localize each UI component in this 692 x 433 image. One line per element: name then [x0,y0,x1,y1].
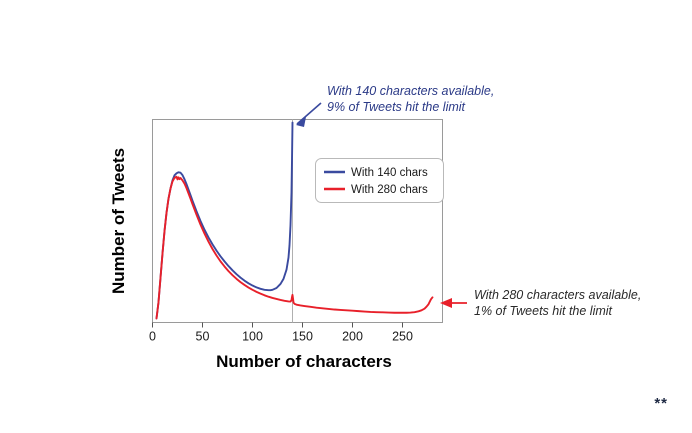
x-tick-label: 0 [149,330,156,344]
annotation-140-line1: With 140 characters available, [327,84,494,98]
x-tick-label: 50 [196,330,210,344]
x-axis-ticks: 050100150200250 [149,323,413,344]
slide-canvas: 050100150200250 Number of characters Num… [0,0,692,433]
footnote-marker: ** [654,396,668,411]
x-tick-label: 250 [392,330,413,344]
annotation-140-line2: 9% of Tweets hit the limit [327,100,466,114]
annotation-280-group: With 280 characters available, 1% of Twe… [440,288,641,318]
legend-label-280: With 280 chars [351,184,428,196]
y-axis-title: Number of Tweets [109,148,128,294]
annotation-280-line2: 1% of Tweets hit the limit [474,304,613,318]
tweet-length-distribution-chart: 050100150200250 Number of characters Num… [0,0,692,433]
legend-label-140: With 140 chars [351,167,428,179]
annotation-280-line1: With 280 characters available, [474,288,641,302]
x-tick-label: 200 [342,330,363,344]
x-tick-label: 100 [242,330,263,344]
x-axis-title: Number of characters [216,352,392,371]
x-tick-label: 150 [292,330,313,344]
plot-area-frame [153,120,443,323]
chart-legend[interactable]: With 140 chars With 280 chars [316,159,444,203]
